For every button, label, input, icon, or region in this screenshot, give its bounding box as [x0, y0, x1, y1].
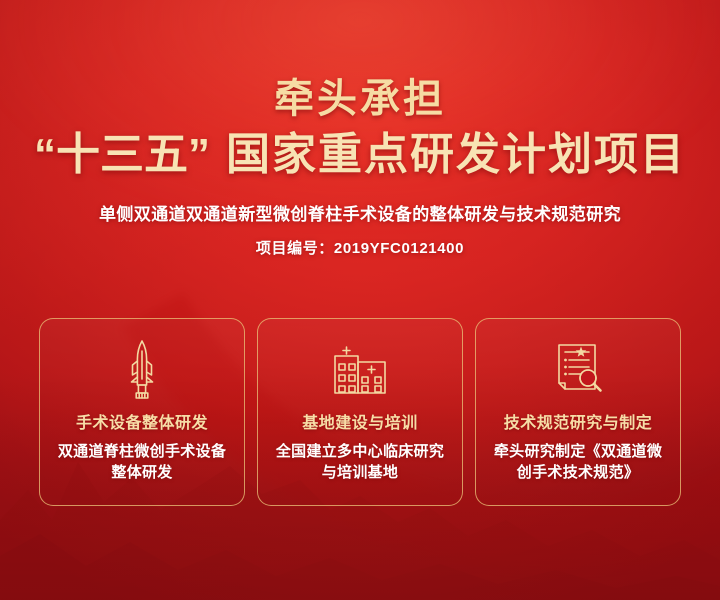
feature-card-title: 手术设备整体研发	[76, 409, 208, 433]
feature-card-description: 全国建立多中心临床研究与培训基地	[270, 441, 450, 484]
document-search-icon	[551, 339, 605, 401]
feature-card-tech-standard[interactable]: 技术规范研究与制定 牵头研究制定《双通道微创手术技术规范》	[475, 318, 681, 506]
feature-card-title: 技术规范研究与制定	[504, 409, 653, 433]
feature-card-list: 手术设备整体研发 双通道脊柱微创手术设备整体研发	[0, 318, 720, 506]
page-title-line1: 牵头承担	[0, 78, 720, 121]
feature-card-base-training[interactable]: 基地建设与培训 全国建立多中心临床研究与培训基地	[257, 318, 463, 506]
feature-card-title: 基地建设与培训	[302, 409, 418, 433]
feature-card-description: 牵头研究制定《双通道微创手术技术规范》	[488, 441, 668, 484]
poster-banner: 牵头承担 “十三五”国家重点研发计划项目 单侧双通道双通道新型微创脊柱手术设备的…	[0, 0, 720, 600]
hospital-icon	[332, 339, 388, 401]
header: 牵头承担 “十三五”国家重点研发计划项目 单侧双通道双通道新型微创脊柱手术设备的…	[0, 0, 720, 258]
feature-card-equipment-rd[interactable]: 手术设备整体研发 双通道脊柱微创手术设备整体研发	[39, 318, 245, 506]
page-title-quoted-term: “十三五”	[34, 130, 210, 179]
page-title-program-name: 国家重点研发计划项目	[226, 130, 686, 179]
rocket-icon	[125, 339, 159, 401]
project-number: 项目编号：2019YFC0121400	[0, 237, 720, 258]
page-title-line2: “十三五”国家重点研发计划项目	[0, 131, 720, 179]
page-subtitle: 单侧双通道双通道新型微创脊柱手术设备的整体研发与技术规范研究	[0, 200, 720, 225]
feature-card-description: 双通道脊柱微创手术设备整体研发	[52, 441, 232, 484]
